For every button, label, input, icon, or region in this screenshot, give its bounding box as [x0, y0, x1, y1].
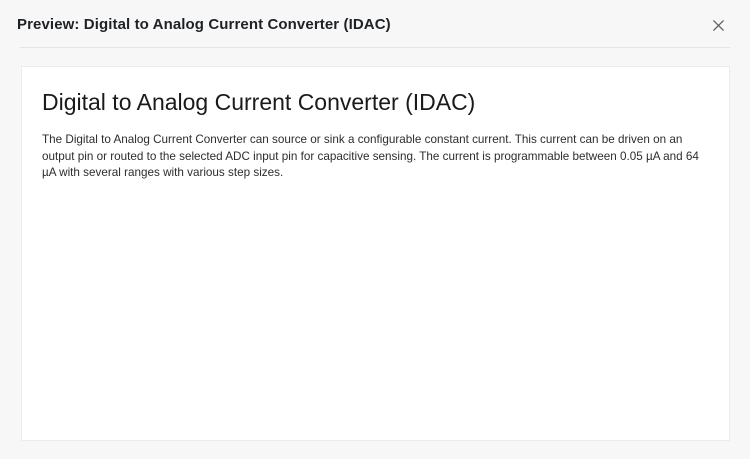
page-title: Preview: Digital to Analog Current Conve… — [17, 15, 391, 35]
document-description: The Digital to Analog Current Converter … — [42, 132, 702, 182]
dialog-header: Preview: Digital to Analog Current Conve… — [0, 0, 750, 47]
preview-content-card: Digital to Analog Current Converter (IDA… — [21, 66, 730, 441]
close-icon — [713, 20, 724, 31]
card-inner: Digital to Analog Current Converter (IDA… — [22, 67, 729, 182]
header-divider — [20, 47, 730, 48]
document-heading: Digital to Analog Current Converter (IDA… — [42, 87, 719, 117]
close-button[interactable] — [709, 16, 727, 34]
preview-dialog: Preview: Digital to Analog Current Conve… — [0, 0, 750, 459]
